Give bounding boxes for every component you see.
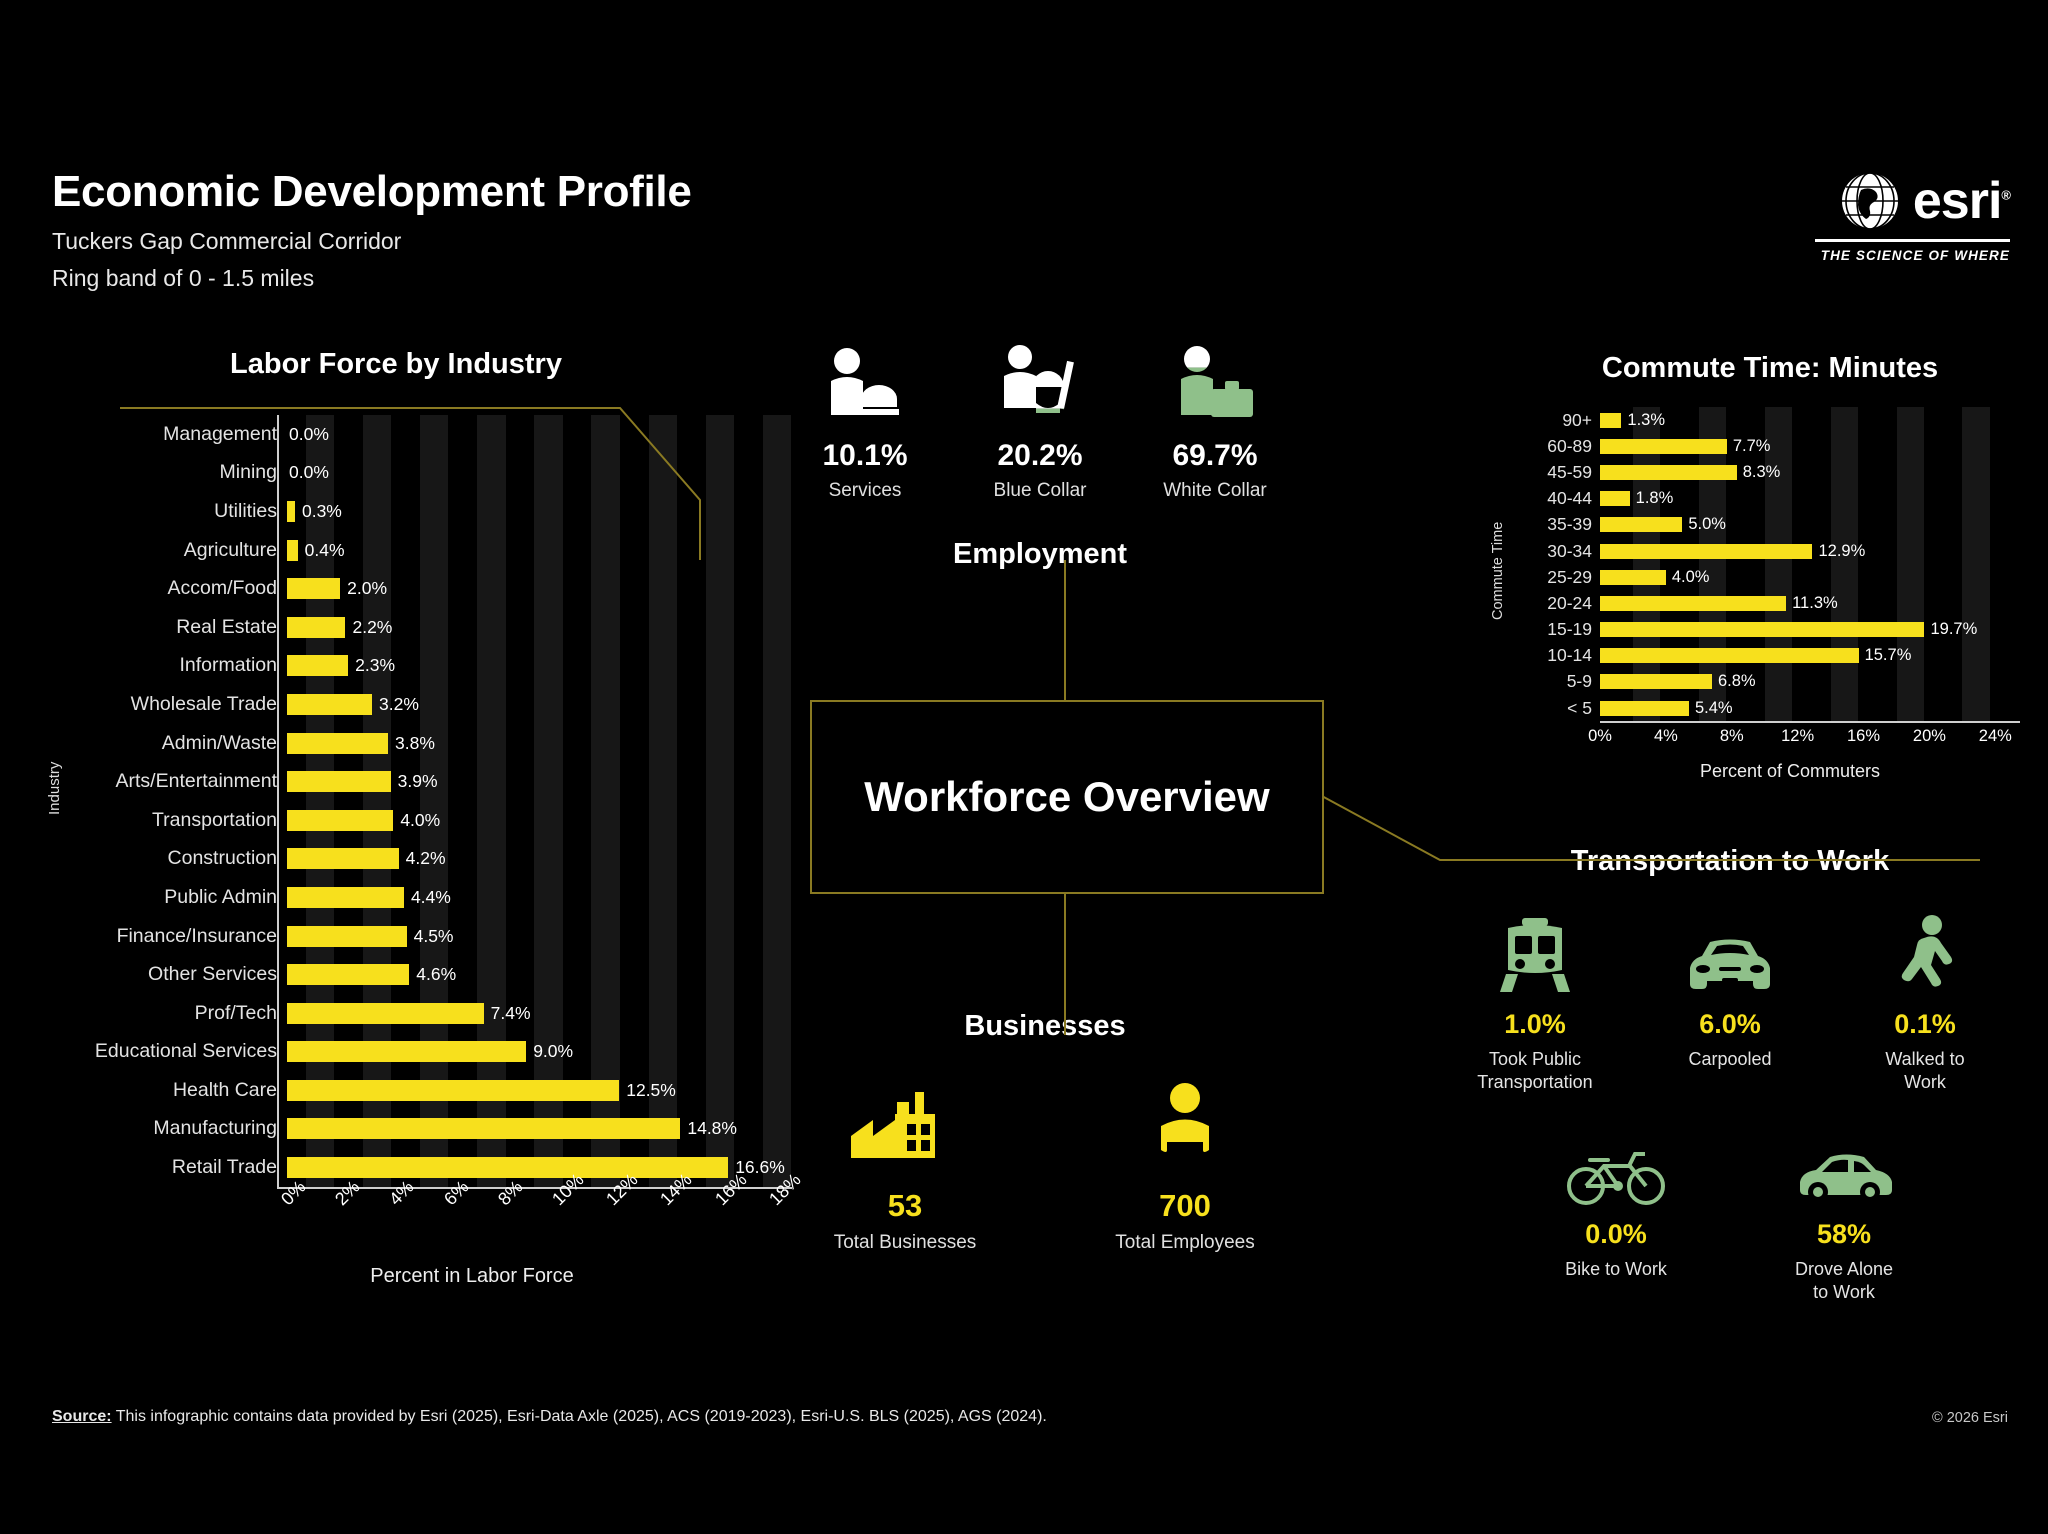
labor-bar-row: Mining0.0%: [52, 454, 792, 493]
labor-bar-row: Accom/Food2.0%: [52, 569, 792, 608]
labor-bar-row: Real Estate2.2%: [52, 608, 792, 647]
car-front-icon: [1684, 934, 1776, 996]
commute-y-axis-label: Commute Time: [1490, 522, 1506, 620]
employment-items: 10.1%Services20.2%Blue Collar69.7%White …: [790, 340, 1290, 502]
labor-value-label: 3.8%: [395, 733, 435, 754]
employment-percent: 10.1%: [790, 439, 940, 473]
labor-value-label: 4.6%: [416, 964, 456, 985]
train-icon: [1498, 916, 1572, 996]
labor-category-label: Other Services: [52, 963, 287, 986]
commute-category-label: 35-39: [1520, 514, 1600, 535]
commute-value-label: 15.7%: [1865, 646, 1912, 665]
labor-bar: [287, 1080, 619, 1101]
labor-bar-row: Finance/Insurance4.5%: [52, 917, 792, 956]
labor-bar: [287, 694, 372, 715]
labor-bar-row: Agriculture0.4%: [52, 531, 792, 570]
workforce-overview-box: Workforce Overview: [810, 700, 1324, 894]
business-item: 53Total Businesses: [830, 1077, 980, 1254]
commute-value-label: 1.3%: [1627, 411, 1665, 430]
labor-value-label: 2.2%: [352, 617, 392, 638]
transportation-percent: 0.1%: [1850, 1009, 2000, 1040]
car-side-icon: [1792, 1148, 1896, 1206]
labor-bar-area: 2.0%: [287, 569, 792, 608]
commute-bar-row: 40-441.8%: [1520, 486, 2020, 512]
employment-section: 10.1%Services20.2%Blue Collar69.7%White …: [790, 340, 1290, 571]
labor-category-label: Finance/Insurance: [52, 925, 287, 948]
businesses-items: 53Total Businesses700Total Employees: [790, 1077, 1300, 1254]
labor-category-label: Retail Trade: [52, 1156, 287, 1179]
employment-title: Employment: [790, 538, 1290, 571]
labor-bar-row: Prof/Tech7.4%: [52, 994, 792, 1033]
labor-bar-row: Manufacturing14.8%: [52, 1110, 792, 1149]
transportation-item: 0.1%Walked toWork: [1850, 918, 2000, 1094]
transportation-row-2: 0.0%Bike to Work58%Drove Aloneto Work: [1460, 1128, 2000, 1304]
commute-chart-title: Commute Time: Minutes: [1520, 352, 2020, 385]
business-value: 53: [830, 1188, 980, 1224]
transportation-label: Carpooled: [1655, 1048, 1805, 1071]
labor-bar-area: 4.5%: [287, 917, 792, 956]
commute-bar-area: 8.3%: [1600, 459, 2020, 485]
labor-bar: [287, 771, 391, 792]
labor-value-label: 0.0%: [289, 462, 329, 483]
commute-value-label: 5.4%: [1695, 699, 1733, 718]
labor-category-label: Information: [52, 654, 287, 677]
business-item: 700Total Employees: [1110, 1077, 1260, 1254]
labor-value-label: 2.0%: [347, 578, 387, 599]
transportation-item: 6.0%Carpooled: [1655, 918, 1805, 1094]
commute-bar-area: 7.7%: [1600, 433, 2020, 459]
commute-bar-area: 1.8%: [1600, 486, 2020, 512]
labor-category-label: Agriculture: [52, 539, 287, 562]
employment-item: 20.2%Blue Collar: [965, 340, 1115, 502]
esri-wordmark: esri®: [1913, 175, 2010, 227]
page-subtitle-ring: Ring band of 0 - 1.5 miles: [52, 265, 692, 292]
commute-category-label: 15-19: [1520, 619, 1600, 640]
labor-value-label: 3.2%: [379, 694, 419, 715]
labor-bar-row: Management0.0%: [52, 415, 792, 454]
commute-bar: [1600, 491, 1630, 506]
employment-percent: 69.7%: [1140, 439, 1290, 473]
labor-category-label: Wholesale Trade: [52, 693, 287, 716]
transportation-percent: 0.0%: [1541, 1219, 1691, 1250]
commute-x-tick: 8%: [1720, 727, 1744, 746]
commute-x-ticks: 0%4%8%12%16%20%24%: [1600, 723, 2020, 751]
labor-bar-area: 4.6%: [287, 955, 792, 994]
labor-bar-row: Health Care12.5%: [52, 1071, 792, 1110]
labor-category-label: Admin/Waste: [52, 732, 287, 755]
commute-x-tick: 4%: [1654, 727, 1678, 746]
labor-value-label: 12.5%: [626, 1080, 676, 1101]
labor-bar-row: Educational Services9.0%: [52, 1033, 792, 1072]
commute-bar: [1600, 544, 1812, 559]
labor-bar-area: 0.4%: [287, 531, 792, 570]
transportation-item: 58%Drove Aloneto Work: [1769, 1128, 1919, 1304]
labor-bar-area: 4.2%: [287, 840, 792, 879]
employment-label: Services: [790, 480, 940, 502]
person-icon-wrap: [1110, 1077, 1260, 1172]
labor-category-label: Mining: [52, 461, 287, 484]
commute-category-label: 60-89: [1520, 436, 1600, 457]
labor-value-label: 2.3%: [355, 655, 395, 676]
labor-value-label: 0.3%: [302, 501, 342, 522]
commute-value-label: 19.7%: [1930, 620, 1977, 639]
walking-person-icon: [1894, 914, 1956, 996]
source-text: This infographic contains data provided …: [112, 1408, 1047, 1425]
labor-bar: [287, 617, 345, 638]
commute-bar: [1600, 674, 1712, 689]
labor-value-label: 4.4%: [411, 887, 451, 908]
commute-x-tick: 12%: [1781, 727, 1814, 746]
labor-bar: [287, 1041, 526, 1062]
commute-bar-row: < 55.4%: [1520, 695, 2020, 721]
labor-value-label: 14.8%: [687, 1118, 737, 1139]
transportation-row-1: 1.0%Took PublicTransportation6.0%Carpool…: [1460, 918, 2000, 1094]
copyright-text: © 2026 Esri: [1932, 1410, 2008, 1426]
transportation-label: Walked toWork: [1850, 1048, 2000, 1094]
bicycle-icon-wrap: [1541, 1128, 1691, 1206]
labor-bar-area: 2.3%: [287, 647, 792, 686]
commute-bar-area: 5.4%: [1600, 695, 2020, 721]
commute-category-label: < 5: [1520, 698, 1600, 719]
labor-category-label: Educational Services: [52, 1040, 287, 1063]
transportation-section: Transportation to Work 1.0%Took PublicTr…: [1460, 845, 2000, 1304]
labor-bar: [287, 887, 404, 908]
employment-item: 69.7%White Collar: [1140, 340, 1290, 502]
source-label: Source:: [52, 1408, 112, 1425]
transportation-percent: 6.0%: [1655, 1009, 1805, 1040]
infographic-page: Economic Development Profile Tuckers Gap…: [0, 0, 2048, 1534]
labor-force-chart: Labor Force by Industry Management0.0%Mi…: [52, 348, 792, 1288]
labor-bar-area: 4.0%: [287, 801, 792, 840]
commute-x-tick: 24%: [1979, 727, 2012, 746]
labor-value-label: 4.2%: [406, 848, 446, 869]
commute-value-label: 6.8%: [1718, 672, 1756, 691]
blue-collar-worker-icon: [992, 343, 1088, 425]
source-footer: Source: This infographic contains data p…: [52, 1408, 1047, 1426]
commute-value-label: 1.8%: [1636, 489, 1674, 508]
transportation-item: 1.0%Took PublicTransportation: [1460, 918, 1610, 1094]
white-collar-worker-icon-wrap: [1140, 340, 1290, 425]
commute-x-tick: 0%: [1588, 727, 1612, 746]
labor-bar-area: 0.0%: [287, 454, 792, 493]
commute-value-label: 4.0%: [1672, 568, 1710, 587]
commute-bar-area: 11.3%: [1600, 590, 2020, 616]
commute-bar-row: 10-1415.7%: [1520, 643, 2020, 669]
labor-bar: [287, 926, 407, 947]
labor-bar-area: 2.2%: [287, 608, 792, 647]
labor-bar-row: Public Admin4.4%: [52, 878, 792, 917]
commute-bar: [1600, 622, 1924, 637]
commute-bar-area: 15.7%: [1600, 643, 2020, 669]
labor-bar-row: Utilities0.3%: [52, 492, 792, 531]
labor-bar-area: 12.5%: [287, 1071, 792, 1110]
labor-bar-area: 16.6%: [287, 1148, 792, 1187]
header: Economic Development Profile Tuckers Gap…: [52, 168, 692, 292]
labor-x-ticks: 0%2%4%6%8%10%12%14%16%18%: [277, 1189, 792, 1259]
labor-bar-row: Wholesale Trade3.2%: [52, 685, 792, 724]
labor-bar: [287, 810, 393, 831]
car-front-icon-wrap: [1655, 918, 1805, 996]
globe-icon: [1839, 170, 1901, 232]
labor-bar-row: Admin/Waste3.8%: [52, 724, 792, 763]
commute-bar-area: 4.0%: [1600, 564, 2020, 590]
labor-category-label: Health Care: [52, 1079, 287, 1102]
commute-category-label: 90+: [1520, 410, 1600, 431]
labor-bar-row: Information2.3%: [52, 647, 792, 686]
business-label: Total Employees: [1110, 1232, 1260, 1254]
labor-value-label: 0.4%: [305, 540, 345, 561]
commute-bar-area: 5.0%: [1600, 512, 2020, 538]
labor-value-label: 3.9%: [398, 771, 438, 792]
commute-bar: [1600, 517, 1682, 532]
commute-bar-row: 60-897.7%: [1520, 433, 2020, 459]
commute-category-label: 40-44: [1520, 488, 1600, 509]
car-side-icon-wrap: [1769, 1128, 1919, 1206]
labor-bar: [287, 964, 409, 985]
employment-label: White Collar: [1140, 480, 1290, 502]
commute-category-label: 25-29: [1520, 567, 1600, 588]
blue-collar-worker-icon-wrap: [965, 340, 1115, 425]
labor-y-axis: [277, 415, 279, 1187]
commute-value-label: 12.9%: [1818, 542, 1865, 561]
services-worker-icon: [817, 343, 913, 425]
labor-bar-rows: Management0.0%Mining0.0%Utilities0.3%Agr…: [52, 415, 792, 1187]
commute-bar-area: 1.3%: [1600, 407, 2020, 433]
commute-value-label: 8.3%: [1743, 463, 1781, 482]
commute-bar: [1600, 701, 1689, 716]
labor-category-label: Transportation: [52, 809, 287, 832]
bicycle-icon: [1566, 1144, 1666, 1206]
commute-x-tick: 20%: [1913, 727, 1946, 746]
factory-icon: [851, 1088, 959, 1172]
commute-bar-row: 35-395.0%: [1520, 512, 2020, 538]
commute-x-axis-label: Percent of Commuters: [1560, 761, 2020, 782]
walking-person-icon-wrap: [1850, 918, 2000, 996]
business-value: 700: [1110, 1188, 1260, 1224]
commute-category-label: 10-14: [1520, 645, 1600, 666]
labor-value-label: 4.0%: [400, 810, 440, 831]
transportation-percent: 58%: [1769, 1219, 1919, 1250]
esri-logo: esri® THE SCIENCE OF WHERE: [1815, 170, 2010, 263]
employment-item: 10.1%Services: [790, 340, 940, 502]
page-subtitle: Tuckers Gap Commercial Corridor: [52, 228, 692, 255]
labor-bar-area: 0.3%: [287, 492, 792, 531]
labor-category-label: Accom/Food: [52, 577, 287, 600]
commute-bar: [1600, 570, 1666, 585]
commute-value-label: 7.7%: [1733, 437, 1771, 456]
labor-bar-row: Arts/Entertainment3.9%: [52, 762, 792, 801]
commute-bar-row: 45-598.3%: [1520, 459, 2020, 485]
commute-bar-area: 6.8%: [1600, 669, 2020, 695]
labor-bar-area: 3.8%: [287, 724, 792, 763]
labor-chart-title: Labor Force by Industry: [0, 348, 792, 381]
labor-bar: [287, 1118, 680, 1139]
transportation-title: Transportation to Work: [1460, 845, 2000, 878]
commute-bar: [1600, 413, 1621, 428]
labor-bar: [287, 848, 399, 869]
commute-bar-area: 19.7%: [1600, 617, 2020, 643]
labor-bar: [287, 655, 348, 676]
labor-bar-row: Other Services4.6%: [52, 955, 792, 994]
transportation-label: Drove Aloneto Work: [1769, 1258, 1919, 1304]
labor-bar-area: 9.0%: [287, 1033, 792, 1072]
commute-bar-rows: 90+1.3%60-897.7%45-598.3%40-441.8%35-395…: [1520, 407, 2020, 721]
labor-bar: [287, 1157, 728, 1178]
labor-bar-area: 4.4%: [287, 878, 792, 917]
labor-bar-row: Construction4.2%: [52, 840, 792, 879]
commute-category-label: 45-59: [1520, 462, 1600, 483]
employment-percent: 20.2%: [965, 439, 1115, 473]
commute-bar-row: 90+1.3%: [1520, 407, 2020, 433]
transportation-percent: 1.0%: [1460, 1009, 1610, 1040]
commute-value-label: 11.3%: [1792, 594, 1838, 613]
labor-bar: [287, 733, 388, 754]
person-icon: [1153, 1082, 1217, 1172]
commute-bar-row: 25-294.0%: [1520, 564, 2020, 590]
business-label: Total Businesses: [830, 1232, 980, 1254]
labor-category-label: Arts/Entertainment: [52, 770, 287, 793]
labor-value-label: 9.0%: [533, 1041, 573, 1062]
commute-category-label: 20-24: [1520, 593, 1600, 614]
labor-bar-area: 7.4%: [287, 994, 792, 1033]
transportation-label: Took PublicTransportation: [1460, 1048, 1610, 1094]
labor-y-axis-label: Industry: [46, 762, 63, 815]
commute-bar-row: 20-2411.3%: [1520, 590, 2020, 616]
registered-mark: ®: [2001, 188, 2010, 203]
commute-value-label: 5.0%: [1688, 515, 1726, 534]
labor-bar-area: 3.2%: [287, 685, 792, 724]
commute-bar: [1600, 439, 1727, 454]
labor-category-label: Utilities: [52, 500, 287, 523]
transportation-label: Bike to Work: [1541, 1258, 1691, 1281]
labor-bar: [287, 1003, 484, 1024]
commute-bar-area: 12.9%: [1600, 538, 2020, 564]
labor-bar: [287, 540, 298, 561]
labor-x-axis-label: Percent in Labor Force: [152, 1265, 792, 1288]
logo-tagline: THE SCIENCE OF WHERE: [1821, 248, 2010, 263]
labor-category-label: Construction: [52, 847, 287, 870]
labor-value-label: 0.0%: [289, 424, 329, 445]
labor-bar: [287, 501, 295, 522]
labor-category-label: Public Admin: [52, 886, 287, 909]
labor-bar: [287, 578, 340, 599]
commute-time-chart: Commute Time: Minutes 90+1.3%60-897.7%45…: [1520, 352, 2020, 782]
train-icon-wrap: [1460, 918, 1610, 996]
labor-bar-row: Transportation4.0%: [52, 801, 792, 840]
labor-bar-area: 3.9%: [287, 762, 792, 801]
workforce-overview-title: Workforce Overview: [864, 773, 1269, 821]
labor-value-label: 7.4%: [491, 1003, 531, 1024]
transportation-item: 0.0%Bike to Work: [1541, 1128, 1691, 1304]
white-collar-worker-icon: [1167, 343, 1263, 425]
labor-category-label: Management: [52, 423, 287, 446]
commute-category-label: 5-9: [1520, 671, 1600, 692]
commute-bar: [1600, 465, 1737, 480]
labor-category-label: Real Estate: [52, 616, 287, 639]
commute-x-tick: 16%: [1847, 727, 1880, 746]
labor-category-label: Manufacturing: [52, 1117, 287, 1140]
commute-bar-row: 15-1919.7%: [1520, 617, 2020, 643]
businesses-title: Businesses: [790, 1010, 1300, 1043]
commute-category-label: 30-34: [1520, 541, 1600, 562]
businesses-section: Businesses 53Total Businesses700Total Em…: [790, 1010, 1300, 1254]
commute-bar: [1600, 596, 1786, 611]
labor-bar-area: 14.8%: [287, 1110, 792, 1149]
page-title: Economic Development Profile: [52, 168, 692, 216]
commute-bar-row: 30-3412.9%: [1520, 538, 2020, 564]
labor-value-label: 4.5%: [414, 926, 454, 947]
factory-icon-wrap: [830, 1077, 980, 1172]
labor-category-label: Prof/Tech: [52, 1002, 287, 1025]
commute-bar: [1600, 648, 1859, 663]
commute-bar-row: 5-96.8%: [1520, 669, 2020, 695]
employment-label: Blue Collar: [965, 480, 1115, 502]
services-worker-icon-wrap: [790, 340, 940, 425]
labor-bar-area: 0.0%: [287, 415, 792, 454]
logo-divider: [1815, 239, 2010, 242]
